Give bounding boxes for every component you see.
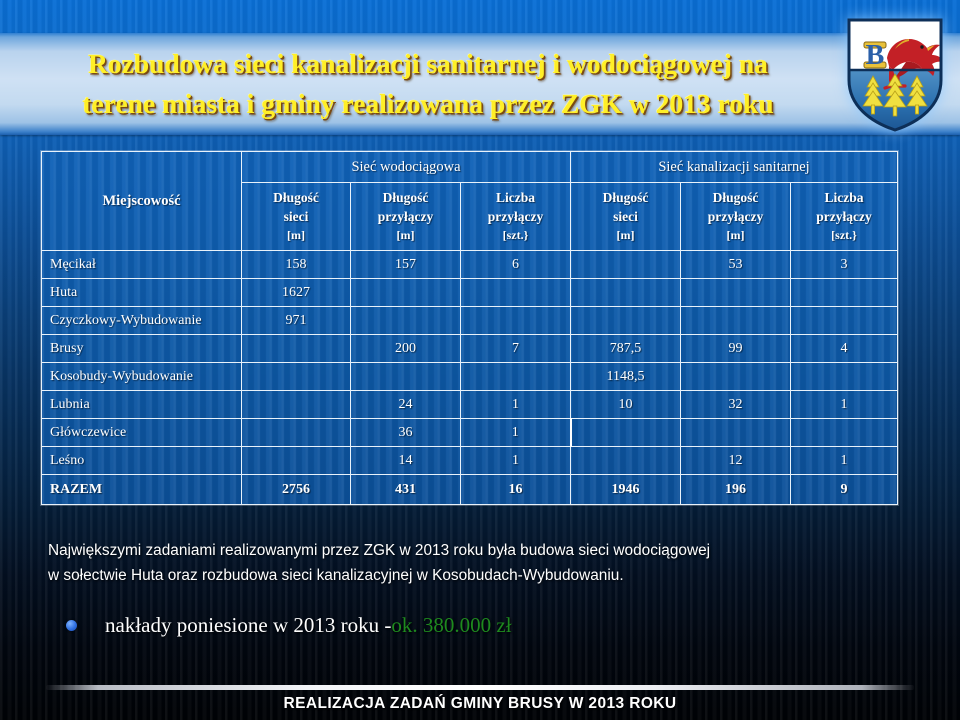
table-subheader-water-connections-length: Długość przyłączy [m] <box>351 183 461 251</box>
cell-water-length <box>242 447 351 475</box>
cell-total-sewer-conn-length: 196 <box>681 475 791 505</box>
cell-water-conn-count <box>461 363 571 391</box>
cell-water-length: 158 <box>242 251 351 279</box>
summary-paragraph-line-1: Największymi zadaniami realizowanymi prz… <box>48 538 946 563</box>
cell-water-conn-length <box>351 363 461 391</box>
cell-sewer-conn-length <box>681 279 791 307</box>
cell-total-sewer-length: 1946 <box>571 475 681 505</box>
subheader-line-1: Długość <box>351 188 460 207</box>
cell-water-conn-length: 157 <box>351 251 461 279</box>
subheader-line-2: przyłączy <box>791 207 897 226</box>
cell-water-conn-length: 24 <box>351 391 461 419</box>
cell-water-length <box>242 391 351 419</box>
cell-water-conn-count: 1 <box>461 447 571 475</box>
table-row: Huta 1627 <box>42 279 898 307</box>
table-header-group-row: Miejscowość Sieć wodociągowa Sieć kanali… <box>42 152 898 183</box>
subheader-line-1: Liczba <box>791 188 897 207</box>
subheader-unit: [m] <box>351 226 460 245</box>
cell-sewer-length <box>571 447 681 475</box>
cell-sewer-length <box>571 251 681 279</box>
subheader-line-2: przyłączy <box>681 207 790 226</box>
cell-place: Lubnia <box>42 391 242 419</box>
page-title: Rozbudowa sieci kanalizacji sanitarnej i… <box>18 36 838 132</box>
cell-sewer-conn-length: 53 <box>681 251 791 279</box>
cell-sewer-conn-count: 3 <box>791 251 898 279</box>
cell-place: Brusy <box>42 335 242 363</box>
cell-total-sewer-conn-count: 9 <box>791 475 898 505</box>
table-row: Brusy 200 7 787,5 99 4 <box>42 335 898 363</box>
cell-sewer-conn-length: 99 <box>681 335 791 363</box>
subheader-unit: [m] <box>242 226 350 245</box>
cell-sewer-conn-count <box>791 419 898 447</box>
subheader-unit: [m] <box>571 226 680 245</box>
table-row: Kosobudy-Wybudowanie 1148,5 <box>42 363 898 391</box>
table-row: Czyczkowy-Wybudowanie 971 <box>42 307 898 335</box>
footer-title: REALIZACJA ZADAŃ GMINY BRUSY W 2013 ROKU <box>0 695 960 713</box>
bullet-item-expenditure: nakłady poniesione w 2013 roku - ok. 380… <box>66 613 926 638</box>
cell-water-conn-count: 1 <box>461 419 571 447</box>
cell-sewer-conn-count: 4 <box>791 335 898 363</box>
table-body: Męcikał 158 157 6 53 3 Huta 1627 Czyczko… <box>42 251 898 505</box>
table-subheader-sewer-length: Długość sieci [m] <box>571 183 681 251</box>
cell-water-conn-count: 1 <box>461 391 571 419</box>
subheader-line-2: sieci <box>571 207 680 226</box>
cell-sewer-conn-count: 1 <box>791 391 898 419</box>
cell-place: Czyczkowy-Wybudowanie <box>42 307 242 335</box>
table-header: Miejscowość Sieć wodociągowa Sieć kanali… <box>42 152 898 251</box>
subheader-line-1: Liczba <box>461 188 570 207</box>
cell-sewer-conn-count <box>791 307 898 335</box>
cell-water-length: 1627 <box>242 279 351 307</box>
cell-sewer-conn-length: 32 <box>681 391 791 419</box>
cell-sewer-length: 1148,5 <box>571 363 681 391</box>
bullet-dot-icon <box>66 620 77 631</box>
cell-sewer-conn-count <box>791 279 898 307</box>
cell-total-water-conn-length: 431 <box>351 475 461 505</box>
svg-text:B: B <box>866 40 885 71</box>
cell-place: Leśno <box>42 447 242 475</box>
cell-water-conn-count: 7 <box>461 335 571 363</box>
slide-canvas: Rozbudowa sieci kanalizacji sanitarnej i… <box>0 0 960 720</box>
cell-sewer-conn-count <box>791 363 898 391</box>
cell-place: Męcikał <box>42 251 242 279</box>
subheader-line-2: przyłączy <box>461 207 570 226</box>
table-subheader-water-connections-count: Liczba przyłączy [szt.} <box>461 183 571 251</box>
cell-sewer-length: 787,5 <box>571 335 681 363</box>
footer-divider <box>46 685 914 690</box>
summary-paragraph-line-2: w sołectwie Huta oraz rozbudowa sieci ka… <box>48 563 946 588</box>
subheader-line-1: Długość <box>571 188 680 207</box>
summary-paragraph: Największymi zadaniami realizowanymi prz… <box>48 538 946 588</box>
table-row: Męcikał 158 157 6 53 3 <box>42 251 898 279</box>
cell-sewer-conn-length: 12 <box>681 447 791 475</box>
subheader-line-2: sieci <box>242 207 350 226</box>
cell-water-conn-length: 14 <box>351 447 461 475</box>
cell-water-conn-count <box>461 279 571 307</box>
cell-water-conn-length <box>351 307 461 335</box>
table-subheader-sewer-connections-length: Długość przyłączy [m] <box>681 183 791 251</box>
cell-water-length <box>242 335 351 363</box>
page-title-line-1: Rozbudowa sieci kanalizacji sanitarnej i… <box>88 44 768 84</box>
bullet-label: nakłady poniesione w 2013 roku - <box>105 613 391 638</box>
cell-sewer-conn-length <box>681 419 791 447</box>
coat-of-arms-icon: B <box>843 14 947 134</box>
cell-total-label: RAZEM <box>42 475 242 505</box>
cell-water-length <box>242 419 351 447</box>
bullet-amount-value: ok. 380.000 zł <box>391 613 511 638</box>
cell-water-conn-count: 6 <box>461 251 571 279</box>
table-header-group-water: Sieć wodociągowa <box>242 152 571 183</box>
subheader-line-2: przyłączy <box>351 207 460 226</box>
cell-sewer-length <box>571 279 681 307</box>
network-summary-table: Miejscowość Sieć wodociągowa Sieć kanali… <box>41 151 898 505</box>
page-title-line-2: terene miasta i gminy realizowana przez … <box>82 84 773 124</box>
cell-water-conn-length: 200 <box>351 335 461 363</box>
cell-water-conn-length: 36 <box>351 419 461 447</box>
table-row: Główczewice 36 1 <box>42 419 898 447</box>
cell-sewer-conn-length <box>681 363 791 391</box>
cell-sewer-length: 10 <box>571 391 681 419</box>
subheader-unit: [szt.} <box>791 226 897 245</box>
cell-sewer-conn-length <box>681 307 791 335</box>
cell-place: Huta <box>42 279 242 307</box>
subheader-unit: [szt.} <box>461 226 570 245</box>
table-header-miejscowosc: Miejscowość <box>42 152 242 251</box>
table-row: Leśno 14 1 12 1 <box>42 447 898 475</box>
subheader-line-1: Długość <box>681 188 790 207</box>
cell-total-water-length: 2756 <box>242 475 351 505</box>
table-subheader-water-length: Długość sieci [m] <box>242 183 351 251</box>
cell-water-length <box>242 363 351 391</box>
subheader-line-1: Długość <box>242 188 350 207</box>
cell-total-water-conn-count: 16 <box>461 475 571 505</box>
cell-water-conn-count <box>461 307 571 335</box>
cell-place: Główczewice <box>42 419 242 447</box>
cell-water-conn-length <box>351 279 461 307</box>
cell-sewer-conn-count: 1 <box>791 447 898 475</box>
cell-water-length: 971 <box>242 307 351 335</box>
cell-sewer-length <box>571 307 681 335</box>
cell-sewer-length <box>571 419 681 447</box>
table-total-row: RAZEM 2756 431 16 1946 196 9 <box>42 475 898 505</box>
subheader-unit: [m] <box>681 226 790 245</box>
table-header-group-sewer: Sieć kanalizacji sanitarnej <box>571 152 898 183</box>
table-row: Lubnia 24 1 10 32 1 <box>42 391 898 419</box>
table-subheader-sewer-connections-count: Liczba przyłączy [szt.} <box>791 183 898 251</box>
cell-place: Kosobudy-Wybudowanie <box>42 363 242 391</box>
